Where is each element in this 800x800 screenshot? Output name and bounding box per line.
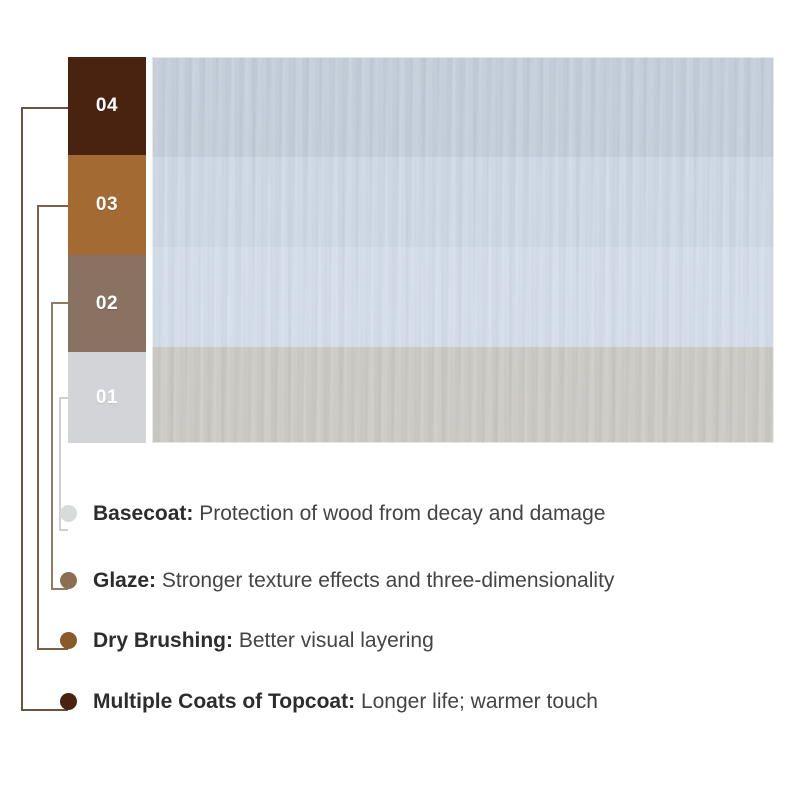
legend-text-glaze: Glaze: Stronger texture effects and thre…	[93, 570, 614, 591]
legend-dot-basecoat	[60, 505, 77, 522]
connector-topcoat	[22, 108, 68, 710]
swatch-04-label: 04	[96, 95, 118, 117]
legend-desc-topcoat: Longer life; warmer touch	[361, 690, 598, 713]
swatch-01-label: 01	[96, 387, 118, 409]
swatch-02[interactable]: 02	[68, 255, 146, 352]
wood-finish-sample-photo	[152, 57, 774, 443]
legend-item-glaze[interactable]: Glaze: Stronger texture effects and thre…	[60, 563, 614, 597]
legend-term-basecoat: Basecoat:	[93, 502, 193, 525]
photo-band-basecoat	[152, 347, 774, 443]
layer-swatch-column: 04 03 02 01	[68, 57, 146, 443]
legend-item-dry-brushing[interactable]: Dry Brushing: Better visual layering	[60, 623, 434, 657]
swatch-02-label: 02	[96, 293, 118, 315]
legend-text-topcoat: Multiple Coats of Topcoat: Longer life; …	[93, 691, 598, 712]
legend-dot-dry-brushing	[60, 632, 77, 649]
swatch-03[interactable]: 03	[68, 155, 146, 255]
photo-band-drybrush	[152, 157, 774, 247]
legend-text-basecoat: Basecoat: Protection of wood from decay …	[93, 503, 605, 524]
legend-text-dry-brushing: Dry Brushing: Better visual layering	[93, 630, 434, 651]
legend-item-topcoat[interactable]: Multiple Coats of Topcoat: Longer life; …	[60, 684, 598, 718]
legend-dot-topcoat	[60, 693, 77, 710]
photo-band-topcoat	[152, 57, 774, 157]
legend-desc-basecoat: Protection of wood from decay and damage	[199, 502, 605, 525]
connector-glaze	[52, 303, 68, 589]
legend-desc-glaze: Stronger texture effects and three-dimen…	[162, 569, 615, 592]
legend-item-basecoat[interactable]: Basecoat: Protection of wood from decay …	[60, 496, 605, 530]
legend-term-dry-brushing: Dry Brushing:	[93, 629, 233, 652]
swatch-04[interactable]: 04	[68, 57, 146, 155]
legend-dot-glaze	[60, 572, 77, 589]
legend-term-glaze: Glaze:	[93, 569, 156, 592]
swatch-03-label: 03	[96, 194, 118, 216]
photo-band-glaze	[152, 247, 774, 347]
legend-term-topcoat: Multiple Coats of Topcoat:	[93, 690, 355, 713]
diagram-canvas: 04 03 02 01 Basecoat: Protection of wood…	[0, 0, 800, 800]
legend-desc-dry-brushing: Better visual layering	[239, 629, 434, 652]
swatch-01[interactable]: 01	[68, 352, 146, 443]
